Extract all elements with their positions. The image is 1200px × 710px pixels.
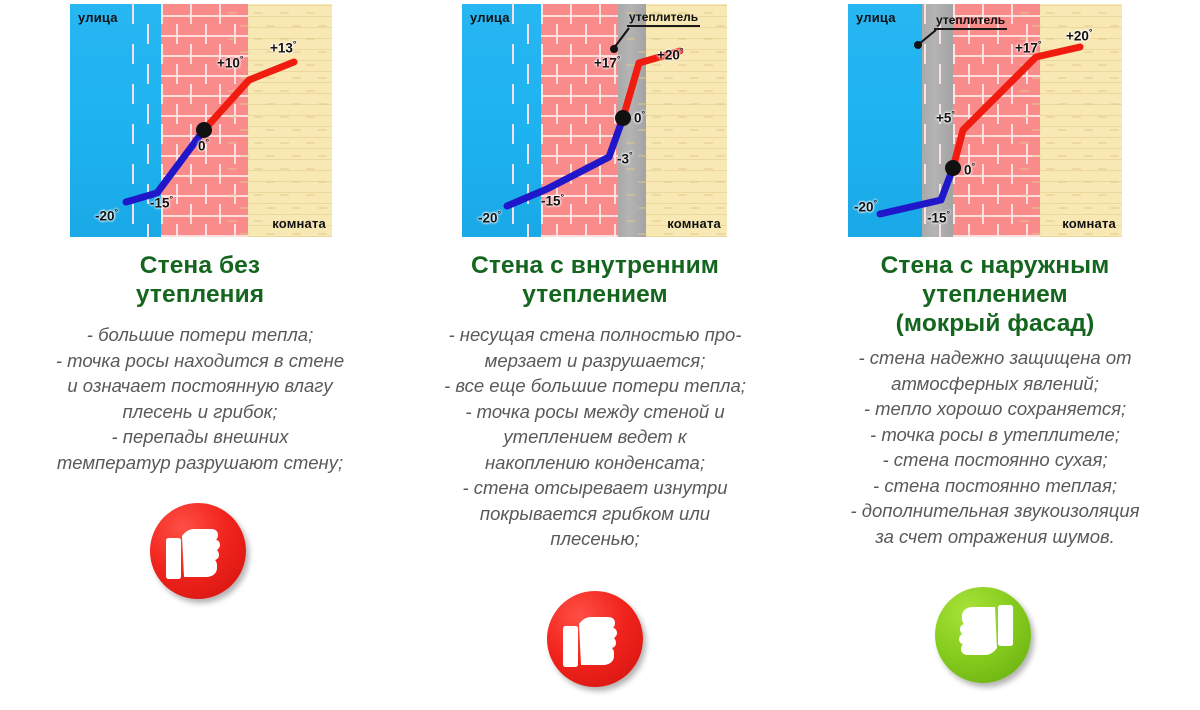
title-line: утепления xyxy=(0,280,400,309)
temp-label-outside: -20° xyxy=(478,209,501,226)
column-title: Стена с внутренним утеплением xyxy=(400,251,790,309)
diagram-wall-without-insulation: улица комната -20° -15° 0° +10° +13° xyxy=(70,4,332,237)
benefits-list: - несущая стена полностью про- мерзает и… xyxy=(400,322,790,552)
list-item: накоплению конденсата; xyxy=(400,450,790,476)
verdict-badge-thumbs-up xyxy=(935,587,1031,683)
list-item: - дополнительная звукоизоляция xyxy=(790,498,1200,524)
list-item: - все еще большие потери тепла; xyxy=(400,373,790,399)
title-line: Стена с наружным xyxy=(790,251,1200,280)
temp-label-insulation-inner: +17° xyxy=(594,54,621,71)
column-title: Стена с наружным утеплением (мокрый фаса… xyxy=(790,251,1200,338)
temp-label-wall-outer: +5° xyxy=(936,109,955,126)
list-item: - стена постоянно сухая; xyxy=(790,447,1200,473)
column-title: Стена без утепления xyxy=(0,251,400,309)
title-line: утеплением xyxy=(400,280,790,309)
temp-label-wall-outer: -15° xyxy=(150,194,173,211)
infographic-board: улица комната -20° -15° 0° +10° +13° Сте… xyxy=(0,0,1200,710)
list-item: покрывается грибком или xyxy=(400,501,790,527)
list-item: - стена постоянно теплая; xyxy=(790,473,1200,499)
list-item: атмосферных явлений; xyxy=(790,371,1200,397)
title-line: утеплением xyxy=(790,280,1200,309)
temp-label-wall-inner: +10° xyxy=(217,54,244,71)
thumbs-down-icon xyxy=(150,503,246,599)
list-item: плесень и грибок; xyxy=(0,399,400,425)
temp-label-outside: -20° xyxy=(854,198,877,215)
list-item: - стена надежно защищена от xyxy=(790,345,1200,371)
column-wall-with-inner-insulation: улица комната утеплитель -20° -15° -3° 0… xyxy=(400,0,790,710)
list-item: температур разрушают стену; xyxy=(0,450,400,476)
temp-label-dew-point: 0° xyxy=(634,109,645,126)
list-item: и означает постоянную влагу xyxy=(0,373,400,399)
column-wall-with-outer-insulation: улица комната утеплитель -20° -15° 0° +5… xyxy=(790,0,1200,710)
list-item: - точка росы в утеплителе; xyxy=(790,422,1200,448)
list-item: - несущая стена полностью про- xyxy=(400,322,790,348)
list-item: мерзает и разрушается; xyxy=(400,348,790,374)
list-item: - перепады внешних xyxy=(0,424,400,450)
list-item: - тепло хорошо сохраняется; xyxy=(790,396,1200,422)
verdict-badge-thumbs-down xyxy=(547,591,643,687)
temp-label-room: +20° xyxy=(657,46,684,63)
temp-label-outside: -20° xyxy=(95,207,118,224)
temp-label-wall-inner: +17° xyxy=(1015,39,1042,56)
title-line: Стена с внутренним xyxy=(400,251,790,280)
temp-label-dew-point: 0° xyxy=(964,161,975,178)
column-wall-without-insulation: улица комната -20° -15° 0° +10° +13° Сте… xyxy=(0,0,400,710)
benefits-list: - стена надежно защищена от атмосферных … xyxy=(790,345,1200,549)
temp-label-room: +13° xyxy=(270,39,297,56)
temp-label-room: +20° xyxy=(1066,27,1093,44)
diagram-wall-with-inner-insulation: улица комната утеплитель -20° -15° -3° 0… xyxy=(462,4,727,237)
verdict-badge-thumbs-down xyxy=(150,503,246,599)
list-item: плесенью; xyxy=(400,526,790,552)
temp-label-wall-outer: -15° xyxy=(541,192,564,209)
temperature-profile-line xyxy=(462,4,727,237)
diagram-wall-with-outer-insulation: улица комната утеплитель -20° -15° 0° +5… xyxy=(848,4,1122,237)
list-item: за счет отражения шумов. xyxy=(790,524,1200,550)
temp-label-insulation-outer: -15° xyxy=(927,209,950,226)
title-line: (мокрый фасад) xyxy=(790,309,1200,338)
benefits-list: - большие потери тепла; - точка росы нах… xyxy=(0,322,400,475)
list-item: - большие потери тепла; xyxy=(0,322,400,348)
thumbs-up-icon xyxy=(935,587,1031,683)
list-item: - стена отсыревает изнутри xyxy=(400,475,790,501)
title-line: Стена без xyxy=(0,251,400,280)
temp-label-wall-inner: -3° xyxy=(617,150,633,167)
temp-label-dew-point: 0° xyxy=(198,137,209,154)
thumbs-down-icon xyxy=(547,591,643,687)
list-item: утеплением ведет к xyxy=(400,424,790,450)
list-item: - точка росы находится в стене xyxy=(0,348,400,374)
list-item: - точка росы между стеной и xyxy=(400,399,790,425)
